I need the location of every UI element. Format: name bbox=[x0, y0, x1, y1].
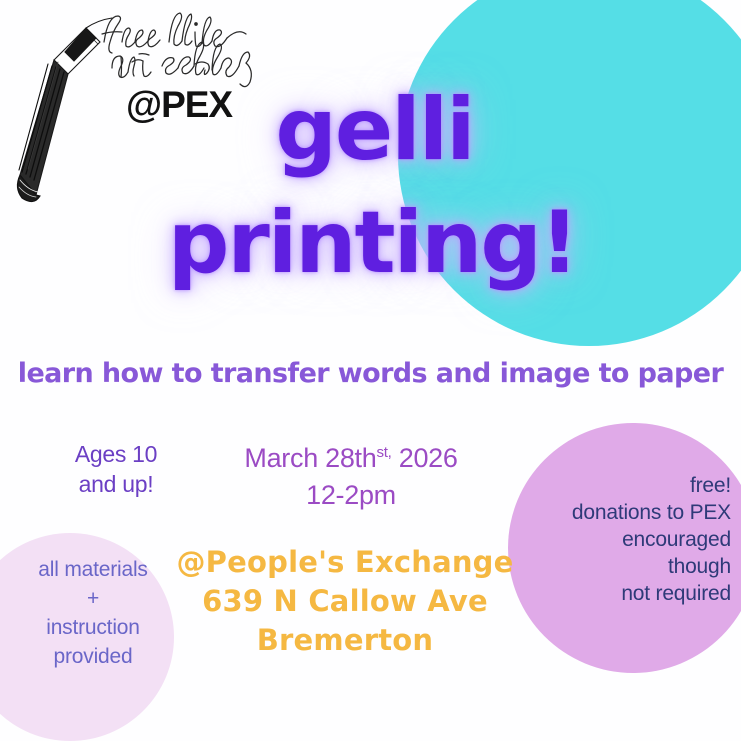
ages-line-2: and up! bbox=[36, 470, 196, 500]
venue-address: @People's Exchange 639 N Callow Ave Brem… bbox=[150, 543, 540, 660]
script-wordmark-free-little-art-school bbox=[96, 8, 268, 88]
venue-city: Bremerton bbox=[150, 621, 540, 660]
venue-name: @People's Exchange bbox=[150, 543, 540, 582]
ages-line-1: Ages 10 bbox=[36, 440, 196, 470]
teal-circle-decoration bbox=[398, 0, 741, 346]
donations-line-1: free! bbox=[505, 472, 731, 499]
poster-canvas: @PEX gelli printing! learn how to transf… bbox=[0, 0, 741, 741]
event-month-day: March 28th bbox=[244, 443, 376, 473]
venue-street: 639 N Callow Ave bbox=[150, 582, 540, 621]
event-ordinal-suffix: st, bbox=[376, 444, 391, 461]
event-date-line: March 28thst, 2026 bbox=[196, 440, 506, 477]
ages-info: Ages 10 and up! bbox=[36, 440, 196, 500]
pex-handle-text: @PEX bbox=[126, 84, 232, 126]
poster-subtitle: learn how to transfer words and image to… bbox=[0, 358, 741, 389]
donations-line-2: donations to PEX bbox=[505, 499, 731, 526]
event-time: 12-2pm bbox=[196, 477, 506, 514]
brand-logo: @PEX bbox=[8, 6, 278, 221]
event-datetime: March 28thst, 2026 12-2pm bbox=[196, 440, 506, 515]
event-year: 2026 bbox=[399, 443, 458, 473]
